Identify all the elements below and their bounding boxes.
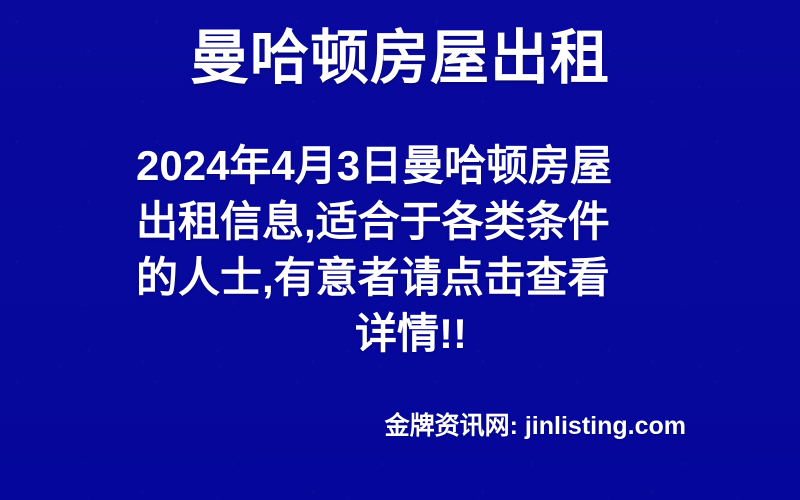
site-attribution: 金牌资讯网: jinlisting.com: [0, 410, 800, 442]
rental-ad-poster: 曼哈顿房屋出租 2024年4月3日曼哈顿房屋 出租信息,适合于各类条件 的人士,…: [0, 0, 800, 500]
ad-description-line: 的人士,有意者请点击查看: [136, 250, 686, 306]
ad-description-line: 出租信息,适合于各类条件: [136, 194, 686, 250]
page-title: 曼哈顿房屋出租: [0, 22, 800, 94]
ad-description: 2024年4月3日曼哈顿房屋 出租信息,适合于各类条件 的人士,有意者请点击查看…: [136, 138, 686, 362]
ad-description-line: 详情!!: [136, 306, 686, 362]
ad-description-line: 2024年4月3日曼哈顿房屋: [136, 138, 686, 194]
